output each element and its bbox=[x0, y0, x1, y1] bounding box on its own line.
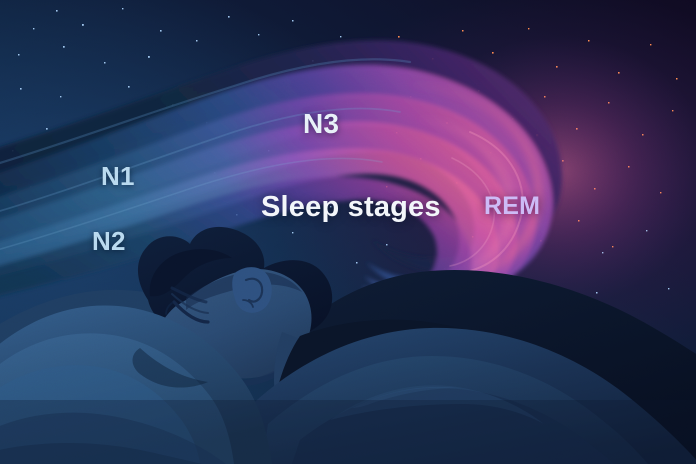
sleep-stages-illustration: N1 N2 N3 REM Sleep stages bbox=[0, 0, 696, 464]
sleeper-and-bed-layer bbox=[0, 0, 696, 464]
bottom-vignette bbox=[0, 400, 696, 464]
